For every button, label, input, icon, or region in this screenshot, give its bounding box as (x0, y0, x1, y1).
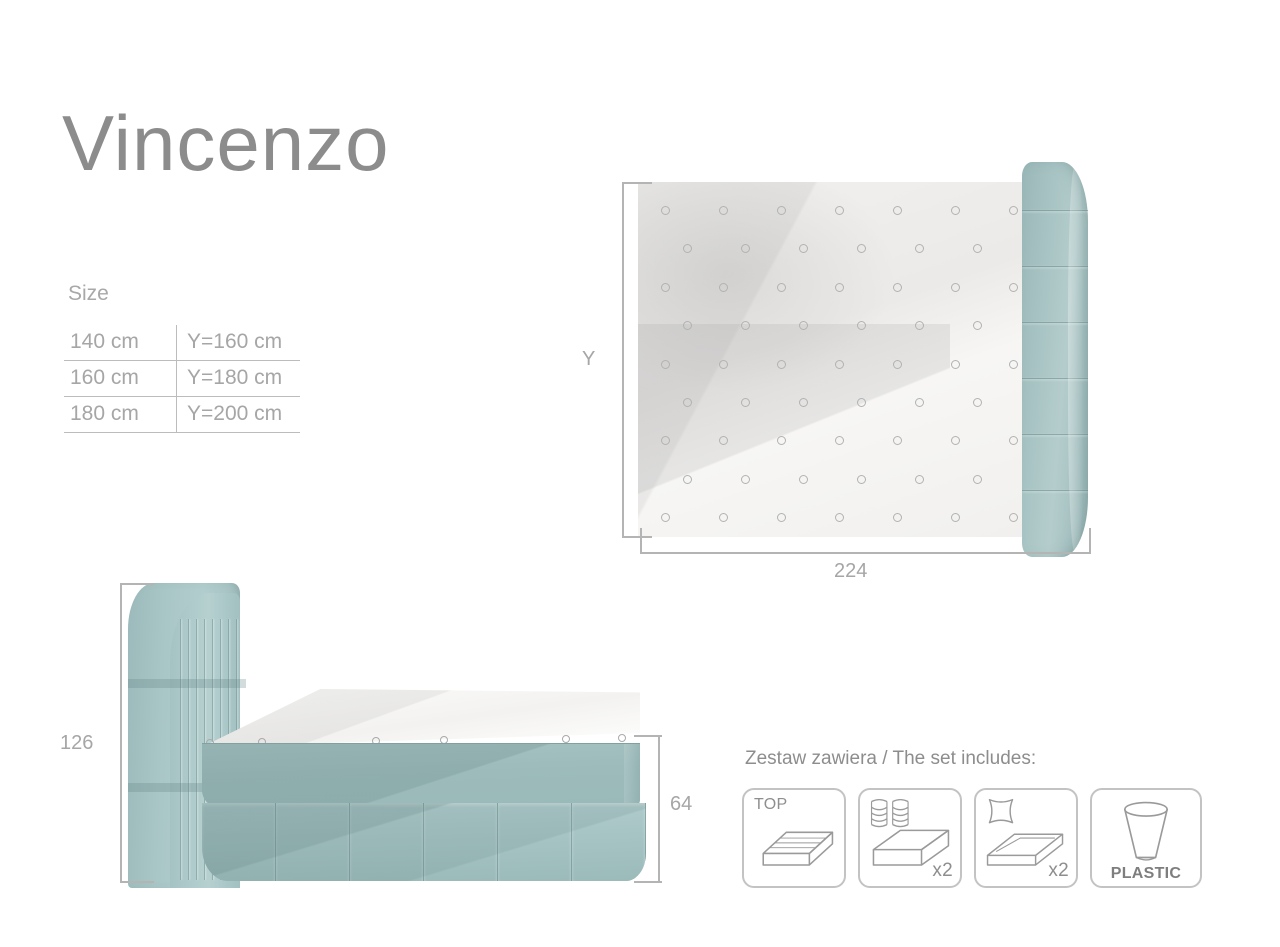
base-panel (276, 803, 350, 881)
set-item-mattress-springs: x2 (858, 788, 962, 888)
tuft-button (741, 475, 750, 484)
mattress-button (618, 734, 626, 742)
tuft-button (777, 513, 786, 522)
tuft-button (719, 360, 728, 369)
tuft-button (973, 398, 982, 407)
dimension-label-y: Y (582, 348, 595, 371)
headboard-highlight (1068, 168, 1084, 551)
base-panel (498, 803, 572, 881)
tuft-button (777, 283, 786, 292)
dimension-line-126 (120, 583, 122, 883)
tuft-button (661, 283, 670, 292)
tuft-button (799, 244, 808, 253)
mattress-springs-icon (860, 790, 960, 886)
base-panel (202, 803, 276, 881)
tuft-button (1009, 360, 1018, 369)
dimension-tick-126-bottom (120, 881, 154, 883)
tuft-button (835, 513, 844, 522)
tuft-button (857, 398, 866, 407)
headboard-rib (180, 619, 181, 880)
tuft-button (835, 206, 844, 215)
tuft-button (741, 321, 750, 330)
tuft-button (799, 475, 808, 484)
tuft-button (777, 436, 786, 445)
tuft-button (893, 283, 902, 292)
tuft-button (777, 206, 786, 215)
tuft-button (857, 475, 866, 484)
tuft-button (683, 321, 692, 330)
headboard-body (1022, 162, 1088, 557)
mattress-top-surface (638, 182, 1038, 537)
tuft-button (1009, 513, 1018, 522)
tuft-button (661, 206, 670, 215)
dimension-line-224 (640, 552, 1090, 554)
tuft-button (719, 283, 728, 292)
dimension-tick-y-top (622, 182, 652, 184)
tuft-button (973, 475, 982, 484)
dimension-tick-224-right (1089, 528, 1091, 554)
base-frame-icon (976, 790, 1076, 886)
tuft-button (1009, 436, 1018, 445)
plastic-leg-icon (1092, 790, 1200, 886)
tuft-button (661, 513, 670, 522)
tuft-button (683, 475, 692, 484)
top-view-illustration: Y 224 (610, 160, 1110, 580)
tuft-button (893, 360, 902, 369)
headboard-rib (188, 619, 189, 880)
headboard-rib (196, 619, 197, 880)
size-width: 140 cm (64, 325, 177, 361)
tuft-button (973, 321, 982, 330)
table-row: 140 cm Y=160 cm (64, 325, 300, 361)
table-row: 180 cm Y=200 cm (64, 397, 300, 433)
size-length: Y=180 cm (177, 361, 301, 397)
tuft-button (973, 244, 982, 253)
base-panel (572, 803, 646, 881)
tuft-button (661, 436, 670, 445)
set-includes-caption: Zestaw zawiera / The set includes: (745, 748, 1036, 770)
bed-base-tufted (202, 803, 646, 881)
tuft-button (719, 436, 728, 445)
tuft-button (741, 398, 750, 407)
side-view-illustration: 126 64 (110, 575, 680, 900)
size-width: 160 cm (64, 361, 177, 397)
dimension-tick-64-top (634, 735, 662, 737)
tuft-button (951, 206, 960, 215)
tuft-button (893, 436, 902, 445)
tuft-button (951, 360, 960, 369)
spec-sheet: Vincenzo Size 140 cm Y=160 cm 160 cm Y=1… (0, 0, 1280, 947)
tuft-button (915, 321, 924, 330)
tuft-button (857, 244, 866, 253)
mattress-side (202, 689, 640, 747)
size-table: 140 cm Y=160 cm 160 cm Y=180 cm 180 cm Y… (64, 325, 300, 433)
bed-box-band (202, 743, 640, 806)
tuft-button (835, 283, 844, 292)
dimension-line-y (622, 182, 624, 538)
tuft-button (719, 206, 728, 215)
headboard-shadow-band (128, 679, 246, 688)
mattress-shadow (202, 689, 640, 747)
topper-icon (744, 790, 844, 886)
tuft-button (799, 321, 808, 330)
tuft-button (719, 513, 728, 522)
tuft-button (893, 206, 902, 215)
dimension-label-224: 224 (834, 560, 867, 583)
page-title: Vincenzo (62, 104, 389, 182)
set-item-topper: TOP (742, 788, 846, 888)
table-row: 160 cm Y=180 cm (64, 361, 300, 397)
dimension-tick-y-bottom (622, 536, 652, 538)
tuft-button (951, 436, 960, 445)
size-label: Size (68, 282, 109, 306)
base-panel (424, 803, 498, 881)
set-item-plastic-legs: PLASTIC (1090, 788, 1202, 888)
tuft-button (857, 321, 866, 330)
tuft-button (661, 360, 670, 369)
dimension-line-64 (658, 735, 660, 883)
set-includes-icons: TOP x2 (742, 788, 1202, 888)
tuft-button (915, 475, 924, 484)
tuft-button (683, 244, 692, 253)
size-width: 180 cm (64, 397, 177, 433)
box-shadow-band (202, 743, 640, 806)
box-right-edge (624, 744, 640, 806)
tuft-button (951, 283, 960, 292)
tuft-button (915, 398, 924, 407)
tuft-button (1009, 283, 1018, 292)
tuft-button-grid (638, 182, 1038, 537)
tuft-button (741, 244, 750, 253)
size-length: Y=160 cm (177, 325, 301, 361)
tuft-button (835, 436, 844, 445)
tuft-button (1009, 206, 1018, 215)
size-length: Y=200 cm (177, 397, 301, 433)
tuft-button (777, 360, 786, 369)
set-item-base-frame: x2 (974, 788, 1078, 888)
tuft-button (799, 398, 808, 407)
tuft-button (951, 513, 960, 522)
dimension-label-126: 126 (60, 732, 93, 755)
dimension-tick-224-left (640, 528, 642, 554)
base-panel (350, 803, 424, 881)
mattress-button (562, 735, 570, 743)
dimension-tick-126-top (120, 583, 154, 585)
tuft-button (683, 398, 692, 407)
dimension-label-64: 64 (670, 793, 692, 816)
headboard-top-view (1022, 162, 1088, 557)
tuft-button (915, 244, 924, 253)
tuft-button (835, 360, 844, 369)
dimension-tick-64-bottom (634, 881, 662, 883)
tuft-button (893, 513, 902, 522)
